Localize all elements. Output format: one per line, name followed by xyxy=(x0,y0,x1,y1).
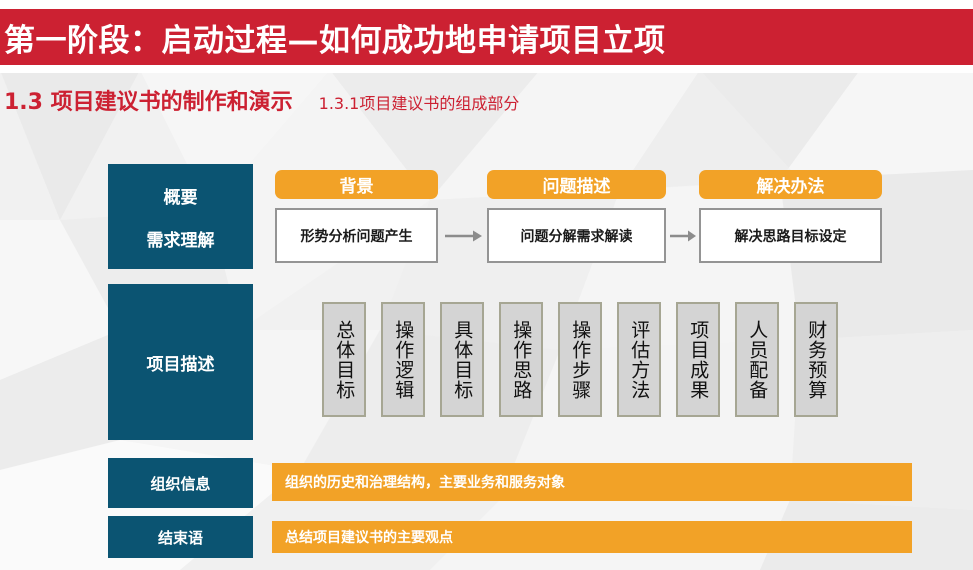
left-block-project-description: 项目描述 xyxy=(108,284,253,440)
vbox-project-outcome-label: 项目成果 xyxy=(688,320,709,400)
left-block-project-description-label: 项目描述 xyxy=(147,350,215,375)
page-title: 第一阶段：启动过程—如何成功地申请项目立项 xyxy=(0,15,666,60)
vbox-operation-logic-label: 操作逻辑 xyxy=(393,320,414,400)
flow-body-problem-text: 问题分解需求解读 xyxy=(521,226,633,246)
vbox-operation-steps-label: 操作步骤 xyxy=(570,320,591,400)
vbox-evaluation-method: 评估方法 xyxy=(617,302,661,417)
subsection-heading: 1.3.1项目建议书的组成部分 xyxy=(319,90,520,114)
flow-body-solution: 解决思路目标设定 xyxy=(699,208,882,263)
vbox-operation-approach: 操作思路 xyxy=(499,302,543,417)
slide-title-band: 第一阶段：启动过程—如何成功地申请项目立项 xyxy=(0,9,973,65)
left-block-overview-line2: 需求理解 xyxy=(147,226,215,251)
bar-org-info: 组织的历史和治理结构，主要业务和服务对象 xyxy=(272,463,912,501)
flow-arrow-1 xyxy=(442,208,484,263)
flow-body-solution-text: 解决思路目标设定 xyxy=(735,226,847,246)
flow-body-background-text: 形势分析问题产生 xyxy=(301,226,413,246)
vbox-operation-approach-label: 操作思路 xyxy=(511,320,532,400)
vbox-evaluation-method-label: 评估方法 xyxy=(629,320,650,400)
flow-body-problem: 问题分解需求解读 xyxy=(487,208,666,263)
slide-canvas: 第一阶段：启动过程—如何成功地申请项目立项 1.3 项目建议书的制作和演示 1.… xyxy=(0,0,973,570)
vbox-staffing-label: 人员配备 xyxy=(747,320,768,400)
left-block-org-info: 组织信息 xyxy=(108,458,253,508)
flow-tab-problem[interactable]: 问题描述 xyxy=(487,170,666,199)
flow-tab-solution-label: 解决办法 xyxy=(757,172,825,197)
vbox-overall-goal-label: 总体目标 xyxy=(334,320,355,400)
vbox-financial-budget-label: 财务预算 xyxy=(806,320,827,400)
vbox-staffing: 人员配备 xyxy=(735,302,779,417)
vbox-project-outcome: 项目成果 xyxy=(676,302,720,417)
left-block-closing-label: 结束语 xyxy=(158,527,203,548)
flow-arrow-2 xyxy=(668,208,698,263)
bar-closing-text: 总结项目建议书的主要观点 xyxy=(285,527,453,547)
left-block-overview-line1: 概要 xyxy=(164,183,198,208)
bar-org-info-text: 组织的历史和治理结构，主要业务和服务对象 xyxy=(285,472,565,492)
left-block-closing: 结束语 xyxy=(108,516,253,558)
top-margin-strip xyxy=(0,0,973,9)
left-block-overview: 概要 需求理解 xyxy=(108,164,253,269)
vbox-overall-goal: 总体目标 xyxy=(322,302,366,417)
section-heading: 1.3 项目建议书的制作和演示 xyxy=(4,84,293,116)
vbox-financial-budget: 财务预算 xyxy=(794,302,838,417)
vbox-specific-goal-label: 具体目标 xyxy=(452,320,473,400)
vbox-operation-logic: 操作逻辑 xyxy=(381,302,425,417)
flow-body-background: 形势分析问题产生 xyxy=(275,208,438,263)
flow-tab-background-label: 背景 xyxy=(340,172,374,197)
vbox-operation-steps: 操作步骤 xyxy=(558,302,602,417)
bar-closing: 总结项目建议书的主要观点 xyxy=(272,521,912,553)
title-underline-strip xyxy=(0,65,973,73)
arrow-right-icon xyxy=(669,229,697,243)
flow-tab-background[interactable]: 背景 xyxy=(275,170,438,199)
left-block-org-info-label: 组织信息 xyxy=(150,473,210,494)
arrow-right-icon xyxy=(443,229,483,243)
flow-tab-problem-label: 问题描述 xyxy=(543,172,611,197)
subtitle-row: 1.3 项目建议书的制作和演示 1.3.1项目建议书的组成部分 xyxy=(4,84,519,116)
vbox-specific-goal: 具体目标 xyxy=(440,302,484,417)
flow-tab-solution[interactable]: 解决办法 xyxy=(699,170,882,199)
